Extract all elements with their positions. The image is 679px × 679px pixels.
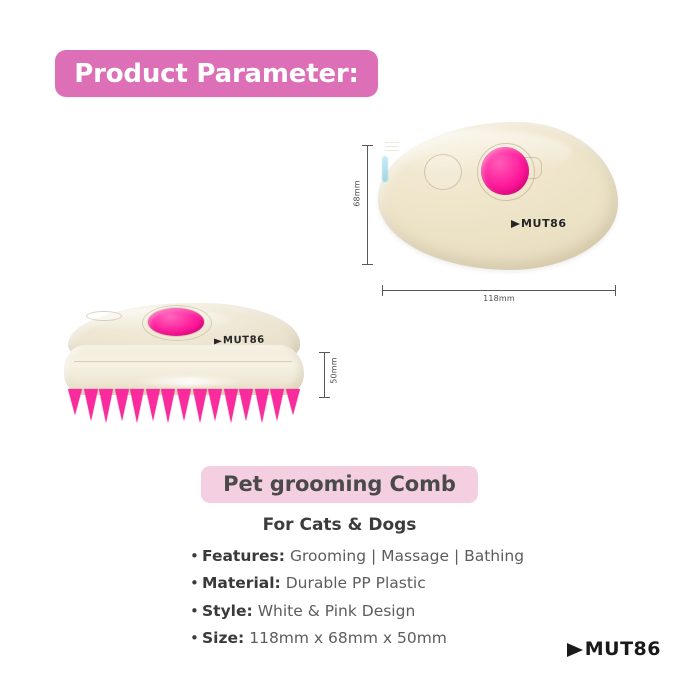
spec-label-features: Features: bbox=[202, 545, 285, 568]
secondary-button-outline bbox=[424, 154, 462, 190]
vent-lines-icon bbox=[385, 142, 399, 154]
dimension-line bbox=[367, 145, 368, 265]
power-button-top bbox=[481, 147, 529, 195]
product-image-top-view: MUT86 bbox=[378, 122, 618, 270]
spec-value-material: Durable PP Plastic bbox=[286, 572, 426, 595]
product-info-block: Pet grooming Comb For Cats & Dogs • Feat… bbox=[0, 466, 679, 654]
product-image-perspective-view: MUT86 bbox=[62, 303, 307, 431]
brand-mark-icon bbox=[214, 338, 222, 344]
footer-brand-logo: MUT86 bbox=[567, 640, 661, 659]
dimension-width-118: 118mm bbox=[382, 285, 616, 307]
list-bullet-icon: • bbox=[190, 545, 202, 568]
audience-subtitle: For Cats & Dogs bbox=[0, 515, 679, 535]
list-bullet-icon: • bbox=[190, 572, 202, 595]
footer-brand-text: MUT86 bbox=[585, 640, 661, 659]
dimension-label-68mm: 68mm bbox=[353, 171, 362, 217]
dimension-line bbox=[382, 290, 616, 291]
power-button-persp bbox=[148, 308, 204, 336]
brand-logo-top-view: MUT86 bbox=[511, 218, 567, 229]
list-item: • Style: White & Pink Design bbox=[0, 600, 679, 623]
comb-highlight-lower bbox=[134, 377, 244, 386]
spec-label-material: Material: bbox=[202, 572, 281, 595]
dimension-label-118mm: 118mm bbox=[382, 294, 616, 303]
product-name-pill-wrap: Pet grooming Comb bbox=[0, 466, 679, 503]
led-indicator-icon bbox=[382, 156, 388, 182]
dimension-depth-50: 50mm bbox=[318, 352, 340, 398]
infographic-page: Product Parameter: MUT86 68mm 118mm bbox=[0, 0, 679, 679]
dimension-cap-bottom bbox=[319, 397, 330, 398]
comb-seam-line bbox=[74, 361, 292, 362]
spec-list: • Features: Grooming | Massage | Bathing… bbox=[0, 545, 679, 650]
dimension-label-50mm: 50mm bbox=[330, 351, 339, 391]
spec-label-size: Size: bbox=[202, 627, 244, 650]
list-item: • Material: Durable PP Plastic bbox=[0, 572, 679, 595]
brand-mark-icon bbox=[511, 220, 520, 228]
dimension-height-68: 68mm bbox=[352, 145, 374, 265]
comb-side-wall bbox=[64, 345, 304, 395]
spec-value-style: White & Pink Design bbox=[258, 600, 416, 623]
list-bullet-icon: • bbox=[190, 627, 202, 650]
dimension-line bbox=[324, 352, 325, 398]
power-button-core bbox=[481, 147, 529, 195]
spec-label-style: Style: bbox=[202, 600, 253, 623]
page-title-banner: Product Parameter: bbox=[55, 50, 378, 97]
dimension-cap-bottom bbox=[362, 264, 373, 265]
brand-logo-text: MUT86 bbox=[521, 218, 567, 229]
water-tank-slot bbox=[86, 311, 122, 321]
list-item: • Features: Grooming | Massage | Bathing bbox=[0, 545, 679, 568]
page-title: Product Parameter: bbox=[74, 59, 358, 89]
comb-bristles bbox=[68, 389, 300, 427]
spec-value-size: 118mm x 68mm x 50mm bbox=[249, 627, 447, 650]
list-bullet-icon: • bbox=[190, 600, 202, 623]
spec-value-features: Grooming | Massage | Bathing bbox=[290, 545, 524, 568]
brand-mark-icon bbox=[567, 643, 583, 657]
product-name-pill: Pet grooming Comb bbox=[201, 466, 478, 503]
